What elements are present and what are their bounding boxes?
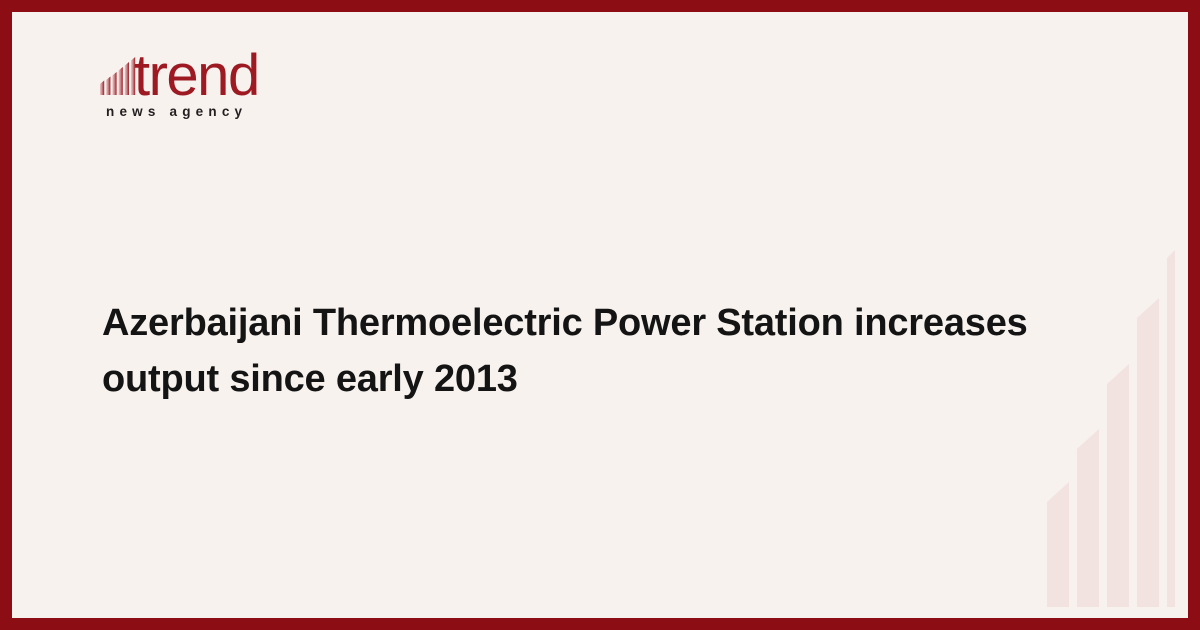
card-canvas: trend news agency Azerbaijani Thermoelec… — [12, 12, 1188, 618]
brand-tagline: news agency — [106, 104, 247, 119]
ascending-bars-watermark-icon — [1023, 172, 1175, 607]
trend-wordmark-icon: trend — [98, 42, 288, 104]
article-headline: Azerbaijani Thermoelectric Power Station… — [102, 295, 1052, 407]
svg-text:trend: trend — [134, 43, 259, 104]
share-card: trend news agency Azerbaijani Thermoelec… — [0, 0, 1200, 630]
brand-logo[interactable]: trend news agency — [98, 42, 288, 128]
